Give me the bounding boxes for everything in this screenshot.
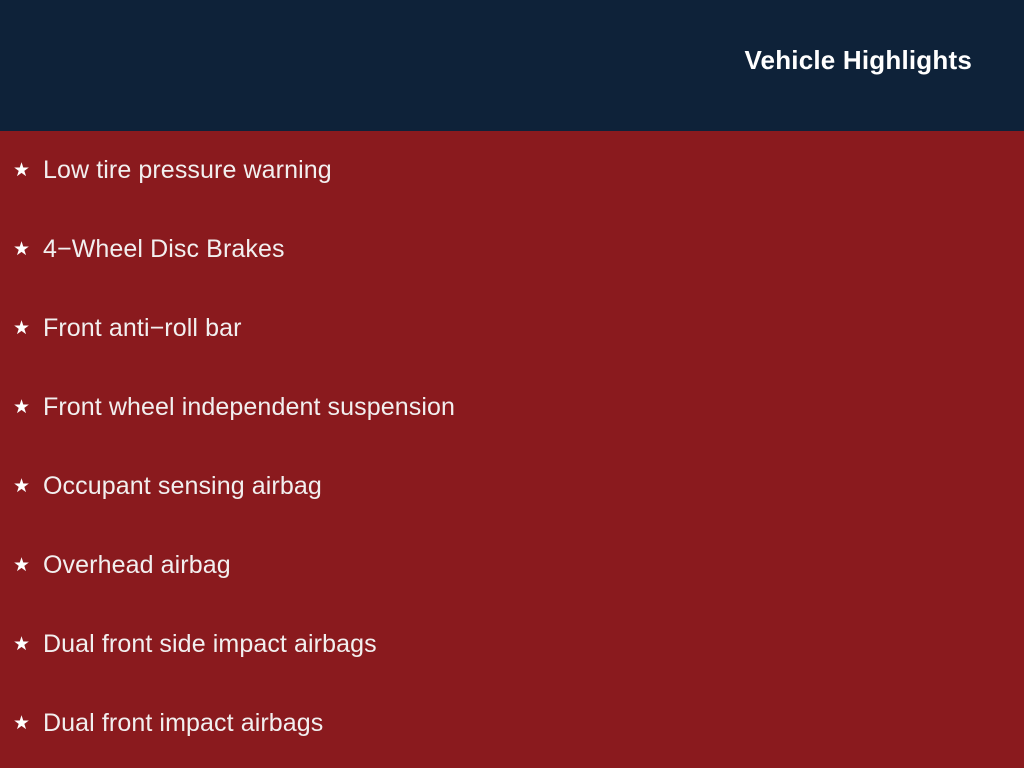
list-item: ★ Occupant sensing airbag: [13, 469, 1024, 503]
list-item: ★ Dual front side impact airbags: [13, 627, 1024, 661]
list-item: ★ Front anti−roll bar: [13, 311, 1024, 345]
star-icon: ★: [13, 635, 43, 654]
star-icon: ★: [13, 240, 43, 259]
list-item-label: Front anti−roll bar: [43, 311, 242, 345]
star-icon: ★: [13, 714, 43, 733]
star-icon: ★: [13, 319, 43, 338]
slide-vehicle-highlights: Vehicle Highlights ★ Low tire pressure w…: [0, 0, 1024, 768]
list-item-label: Dual front side impact airbags: [43, 627, 377, 661]
header-band: Vehicle Highlights: [0, 0, 1024, 131]
list-item-label: Occupant sensing airbag: [43, 469, 322, 503]
list-item-label: Overhead airbag: [43, 548, 231, 582]
vehicle-highlights-list: ★ Low tire pressure warning ★ 4−Wheel Di…: [0, 131, 1024, 768]
page-title: Vehicle Highlights: [744, 47, 972, 73]
star-icon: ★: [13, 556, 43, 575]
star-icon: ★: [13, 398, 43, 417]
list-item-label: 4−Wheel Disc Brakes: [43, 232, 285, 266]
list-item-label: Front wheel independent suspension: [43, 390, 455, 424]
list-item: ★ 4−Wheel Disc Brakes: [13, 232, 1024, 266]
star-icon: ★: [13, 161, 43, 180]
list-item-label: Low tire pressure warning: [43, 153, 332, 187]
star-icon: ★: [13, 477, 43, 496]
list-item: ★ Dual front impact airbags: [13, 706, 1024, 740]
list-item: ★ Overhead airbag: [13, 548, 1024, 582]
list-item: ★ Front wheel independent suspension: [13, 390, 1024, 424]
list-item-label: Dual front impact airbags: [43, 706, 323, 740]
list-item: ★ Low tire pressure warning: [13, 153, 1024, 187]
